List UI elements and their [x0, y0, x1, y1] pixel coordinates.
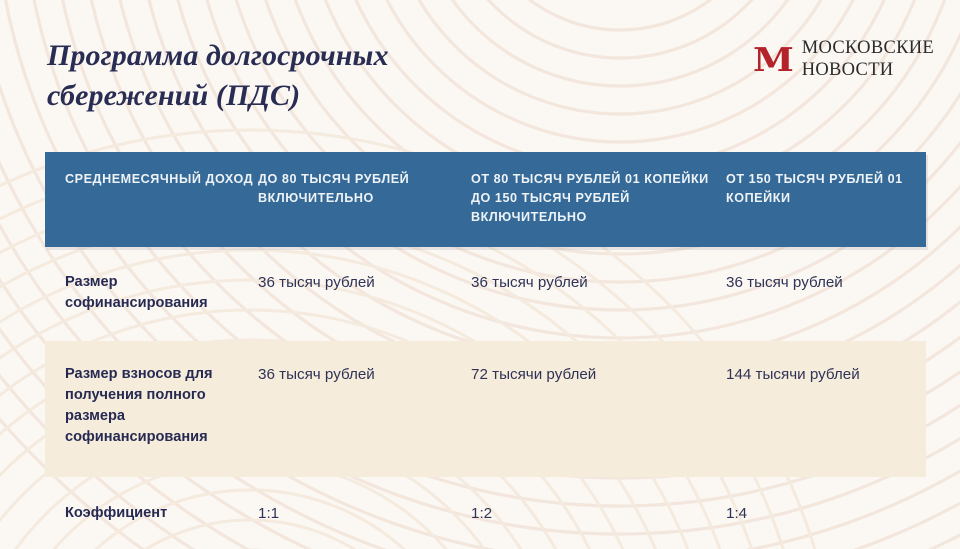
column-header-up-to-80k: До 80 тысяч рублей включительно: [258, 170, 471, 227]
page-title-line-1: Программа долгосрочных: [47, 36, 567, 76]
cell-cofinancing-80k-to-150k: 36 тысяч рублей: [471, 272, 726, 314]
row-label-cofinancing-amount: Размер софинансирования: [45, 272, 258, 314]
brand-logo-line-1: Московские: [802, 38, 934, 60]
row-label-coefficient: Коэффициент: [45, 503, 258, 525]
column-header-over-150k: От 150 тысяч рублей 01 копейки: [726, 170, 926, 227]
cell-coefficient-up-to-80k: 1:1: [258, 503, 471, 525]
brand-logo-line-2: Новости: [802, 60, 934, 82]
cell-contribution-80k-to-150k: 72 тысячи рублей: [471, 364, 726, 449]
column-header-income: Среднемесячный доход: [45, 170, 258, 227]
table-header-row: Среднемесячный доход До 80 тысяч рублей …: [45, 152, 926, 247]
cell-coefficient-over-150k: 1:4: [726, 503, 926, 525]
brand-logo: M Московские Новости: [753, 38, 934, 81]
column-header-80k-to-150k: От 80 тысяч рублей 01 копейки до 150 тыс…: [471, 170, 726, 227]
cell-contribution-up-to-80k: 36 тысяч рублей: [258, 364, 471, 449]
cell-cofinancing-over-150k: 36 тысяч рублей: [726, 272, 926, 314]
brand-logo-text: Московские Новости: [802, 38, 934, 81]
infographic-page: Программа долгосрочных сбережений (ПДС) …: [0, 0, 960, 549]
row-label-contribution-amount: Размер взносов для получения полного раз…: [45, 364, 258, 449]
page-title: Программа долгосрочных сбережений (ПДС): [47, 36, 567, 116]
cell-contribution-over-150k: 144 тысячи рублей: [726, 364, 926, 449]
table-row: Размер софинансирования 36 тысяч рублей …: [45, 247, 926, 341]
pds-comparison-table: Среднемесячный доход До 80 тысяч рублей …: [45, 152, 926, 545]
cell-coefficient-80k-to-150k: 1:2: [471, 503, 726, 525]
moskovskie-novosti-monogram-icon: M: [753, 43, 797, 76]
cell-cofinancing-up-to-80k: 36 тысяч рублей: [258, 272, 471, 314]
table-row: Коэффициент 1:1 1:2 1:4: [45, 477, 926, 545]
table-row-highlighted: Размер взносов для получения полного раз…: [45, 341, 926, 477]
page-title-line-2: сбережений (ПДС): [47, 76, 567, 116]
